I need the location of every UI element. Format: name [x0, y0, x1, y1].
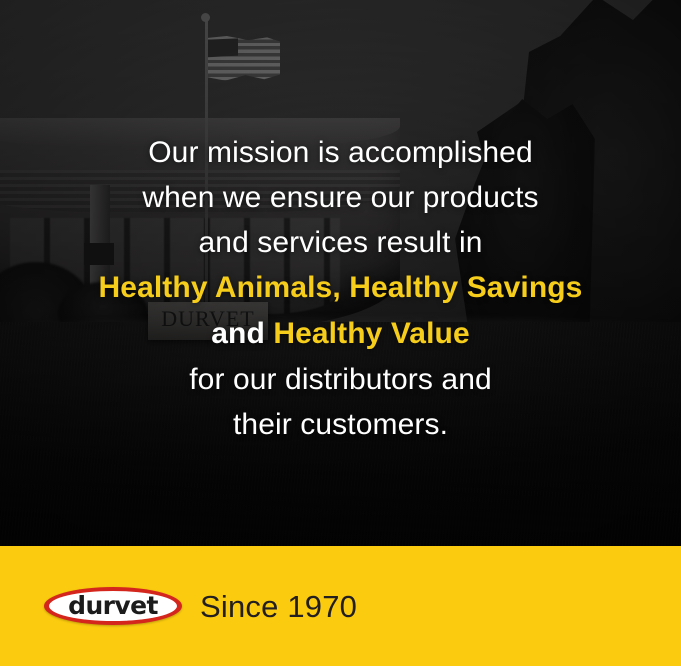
mission-statement: Our mission is accomplished when we ensu…: [0, 130, 681, 447]
mission-accent-line-1: Healthy Animals, Healthy Savings: [24, 265, 657, 311]
logo-wordmark: durvet: [44, 587, 182, 625]
mission-line-3: and services result in: [24, 220, 657, 265]
durvet-logo[interactable]: durvet: [44, 587, 182, 625]
mission-line-2: when we ensure our products: [24, 175, 657, 220]
footer-brand-row: durvet Since 1970: [0, 546, 681, 666]
mission-accent-line-2: and Healthy Value: [24, 311, 657, 357]
mission-line-1: Our mission is accomplished: [24, 130, 657, 175]
mission-accent-line-2-plain: and: [211, 317, 273, 350]
footer-tagline: Since 1970: [200, 591, 357, 622]
durvet-mission-poster: DURVET Our mission is accomplished when …: [0, 0, 681, 666]
mission-closing-line-1: for our distributors and: [24, 357, 657, 402]
mission-accent-line-2-highlight: Healthy Value: [273, 317, 469, 350]
